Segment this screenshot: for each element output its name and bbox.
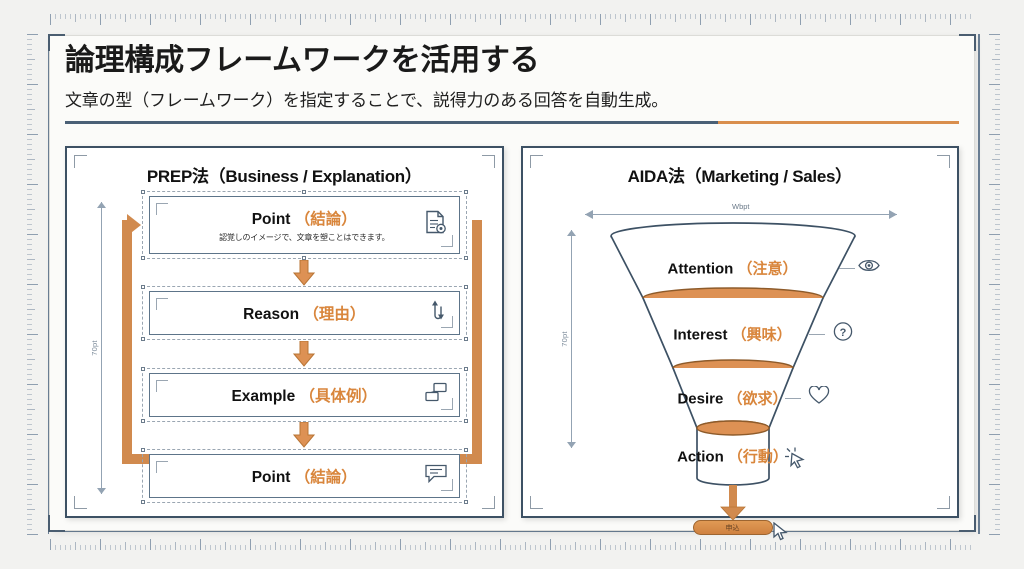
click-cursor-icon <box>783 446 807 475</box>
prep-loop-left <box>122 220 132 464</box>
ruler-left <box>27 34 49 534</box>
prep-card[interactable]: Point （結論） <box>149 454 460 498</box>
prep-step-label: Point （結論） <box>252 465 357 487</box>
leader-line <box>785 398 801 399</box>
aida-height-dimension: 70pt <box>565 230 579 448</box>
crop-mark-top-right <box>959 34 976 51</box>
prep-loop-arrowhead <box>127 214 141 236</box>
cta-button-label: 申込 <box>726 523 740 533</box>
prep-step-2[interactable]: Reason （理由） <box>149 291 460 335</box>
aida-stage-label-desire: Desire （欲求） <box>677 388 787 409</box>
prep-card[interactable]: Point （結論） 認覚しのイメージで、文章を塑ことはできます。 <box>149 196 460 254</box>
prep-step-1[interactable]: Point （結論） 認覚しのイメージで、文章を塑ことはできます。 <box>149 196 460 254</box>
prep-card[interactable]: Reason （理由） <box>149 291 460 335</box>
question-circle-icon: ? <box>833 322 853 347</box>
speech-bubble-icon <box>425 463 447 488</box>
prep-step-3[interactable]: Example （具体例） <box>149 373 460 417</box>
panel-corner-mark <box>74 155 87 168</box>
crop-mark-top-left <box>48 34 65 51</box>
leader-line <box>839 268 855 269</box>
panel-corner-mark <box>530 155 543 168</box>
loop-arrow-icon <box>429 300 447 327</box>
prep-step-4[interactable]: Point （結論） <box>149 454 460 498</box>
aida-width-dimension: Wbpt <box>585 206 898 218</box>
panel-prep: PREP法（Business / Explanation） 70pt <box>65 146 504 518</box>
prep-step-list: Point （結論） 認覚しのイメージで、文章を塑ことはできます。 <box>149 196 460 498</box>
prep-step-label: Example （具体例） <box>231 384 377 406</box>
ruler-right <box>978 34 1000 534</box>
aida-panel-title: AIDA法（Marketing / Sales） <box>523 148 958 187</box>
stacked-windows-icon <box>425 382 447 407</box>
slide-canvas: 論理構成フレームワークを活用する 文章の型（フレームワーク）を指定することで、説… <box>50 36 974 530</box>
prep-dimension-line: 70pt <box>95 202 109 494</box>
document-gear-icon <box>425 211 447 240</box>
eye-icon <box>858 258 880 278</box>
prep-step-label: Point （結論） <box>252 207 357 229</box>
cursor-icon <box>773 522 789 546</box>
ruler-top <box>50 14 974 38</box>
aida-stage-label-action: Action （行動） <box>677 446 788 467</box>
aida-stage-label-interest: Interest （興味） <box>673 324 791 345</box>
title-underline <box>65 121 959 124</box>
cta-button[interactable]: 申込 <box>693 520 773 535</box>
aida-height-label: 70pt <box>560 331 569 346</box>
prep-step-label: Reason （理由） <box>243 302 365 324</box>
prep-panel-title: PREP法（Business / Explanation） <box>67 148 502 187</box>
page-title: 論理構成フレームワークを活用する <box>65 44 959 79</box>
prep-arrow-3 <box>149 417 460 454</box>
heart-icon <box>808 386 829 410</box>
panel-aida: AIDA法（Marketing / Sales） Wbpt 70pt <box>521 146 960 518</box>
svg-text:?: ? <box>839 327 846 339</box>
panel-corner-mark <box>937 155 950 168</box>
panel-corner-mark <box>482 155 495 168</box>
prep-card[interactable]: Example （具体例） <box>149 373 460 417</box>
slide-header: 論理構成フレームワークを活用する 文章の型（フレームワーク）を指定することで、説… <box>65 44 959 124</box>
aida-funnel: Attention （注意） Interest （興味） Desire （欲求）… <box>581 220 948 502</box>
aida-stage-label-attention: Attention （注意） <box>667 258 797 279</box>
prep-arrow-2 <box>149 335 460 372</box>
leader-line <box>809 334 825 335</box>
crop-mark-bottom-left <box>48 515 65 532</box>
prep-loop-right <box>472 220 482 464</box>
prep-dimension-label: 70pt <box>90 340 99 355</box>
prep-step-caption: 認覚しのイメージで、文章を塑ことはできます。 <box>219 232 389 243</box>
crop-mark-bottom-right <box>959 515 976 532</box>
page-subtitle: 文章の型（フレームワーク）を指定することで、説得力のある回答を自動生成。 <box>65 86 959 111</box>
prep-arrow-1 <box>149 254 460 291</box>
aida-width-label: Wbpt <box>732 202 750 211</box>
